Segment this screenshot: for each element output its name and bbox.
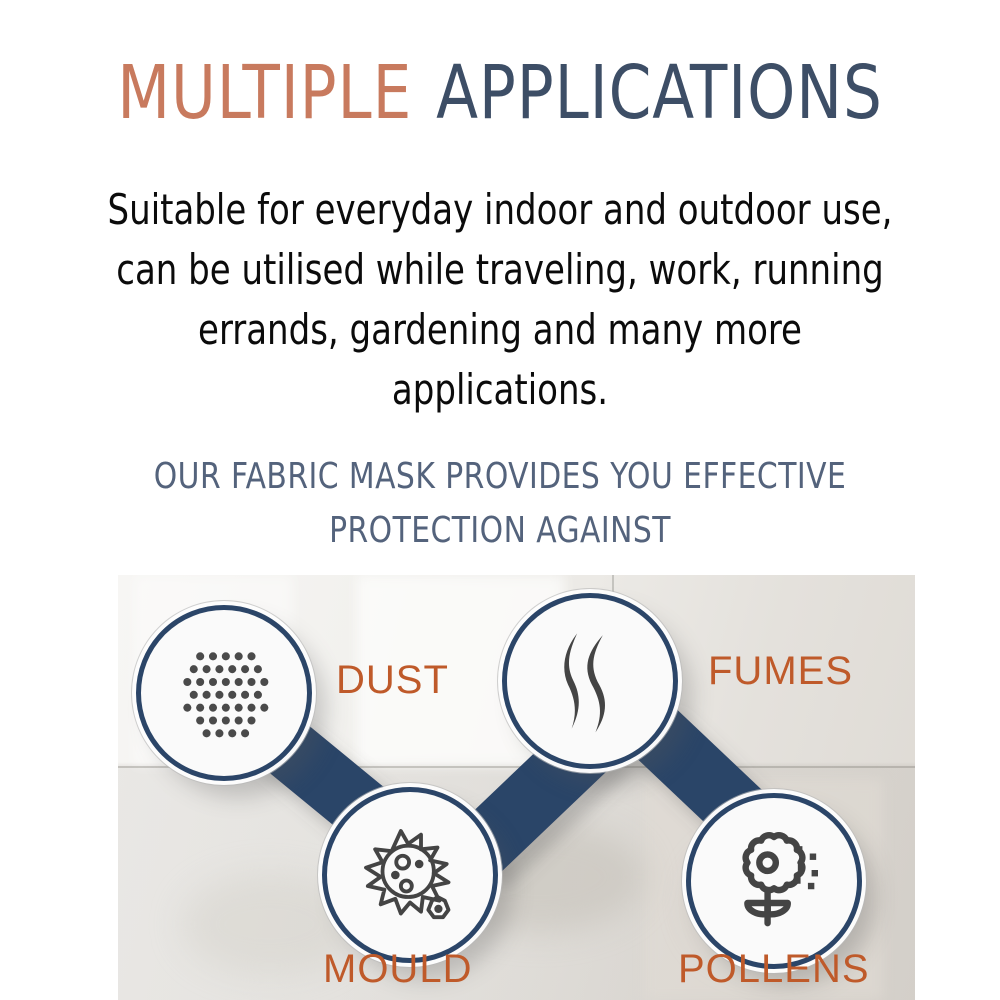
page-title-word-applications: APPLICATIONS — [436, 50, 883, 136]
protection-diagram: DUST FUMES MOULD POLLENS — [118, 575, 915, 1000]
node-label-dust: DUST — [336, 658, 449, 703]
dust-dots-icon — [169, 638, 279, 748]
page-title-word-multiple: MULTIPLE — [117, 50, 412, 136]
page-title: MULTIPLEAPPLICATIONS — [40, 56, 960, 130]
node-fumes[interactable] — [502, 593, 678, 769]
node-label-fumes: FUMES — [708, 649, 853, 694]
protection-subheading: OUR FABRIC MASK PROVIDES YOU EFFECTIVE P… — [77, 450, 923, 558]
description-paragraph: Suitable for everyday indoor and outdoor… — [95, 180, 905, 420]
smoke-wisps-icon — [535, 626, 645, 736]
node-dust[interactable] — [136, 605, 312, 781]
flower-pollen-icon — [719, 826, 829, 936]
node-label-pollens: POLLENS — [678, 947, 870, 992]
node-label-mould: MOULD — [323, 947, 472, 992]
node-pollens[interactable] — [686, 793, 862, 969]
mould-spore-icon — [355, 820, 465, 930]
node-mould[interactable] — [322, 787, 498, 963]
